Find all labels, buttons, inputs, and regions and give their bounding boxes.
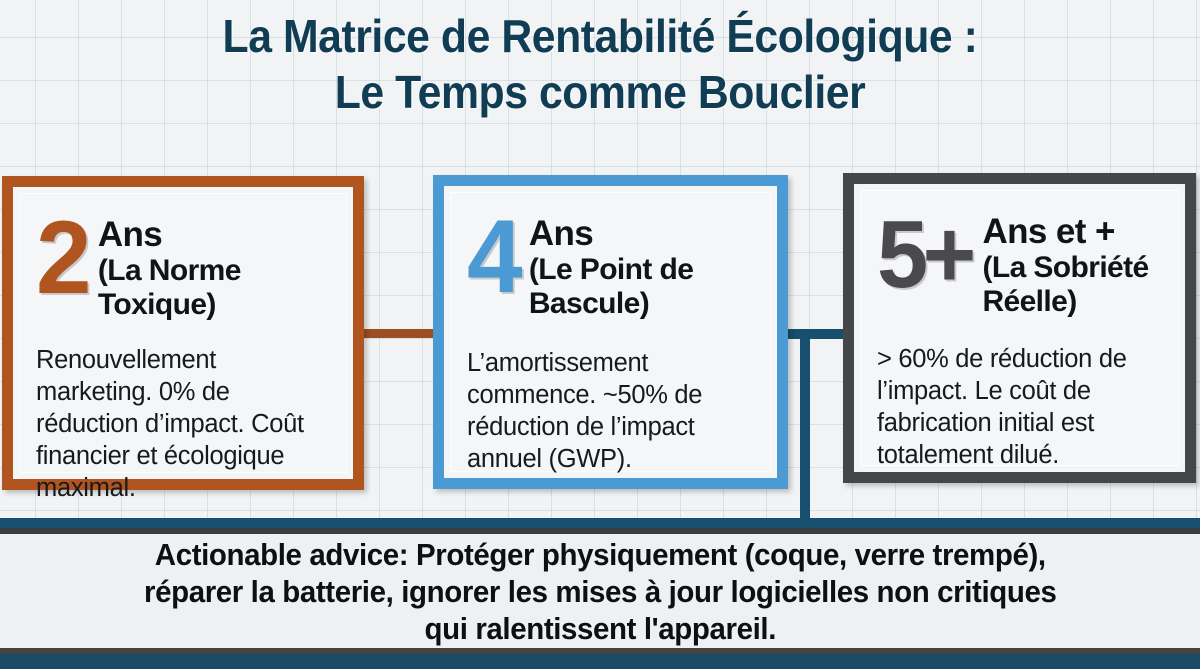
card-body-2-years: Renouvellement marketing. 0% de réductio… xyxy=(36,344,330,504)
card-unit-label-2: Ans xyxy=(98,215,162,254)
footer-panel: Actionable advice: Protéger physiquement… xyxy=(0,534,1200,648)
title-line-2: Le Temps comme Bouclier xyxy=(42,64,1158,120)
card-heading-5-plus-years: Ans et + (La Sobriété Réelle) xyxy=(982,209,1162,319)
card-qualifier-2: (La Norme Toxique) xyxy=(98,254,330,322)
milestone-card-5-plus-years: 5+ Ans et + (La Sobriété Réelle) > 60% d… xyxy=(843,173,1196,483)
card-content-4-years: 4 Ans (Le Point de Bascule) L’amortissem… xyxy=(450,192,771,472)
card-content-2-years: 2 Ans (La Norme Toxique) Renouvellement … xyxy=(19,193,347,473)
card-qualifier-4: (Le Point de Bascule) xyxy=(529,253,754,321)
milestone-card-2-years: 2 Ans (La Norme Toxique) Renouvellement … xyxy=(2,176,364,490)
connector-card2-to-card3 xyxy=(780,329,848,339)
card-unit-label-4: Ans xyxy=(529,214,593,253)
card-body-4-years: L’amortissement commence. ~50% de réduct… xyxy=(467,347,754,475)
card-unit-label-5-plus: Ans et + xyxy=(982,212,1114,251)
footer-line-2: réparer la batterie, ignorer les mises à… xyxy=(144,573,1056,610)
milestone-card-4-years: 4 Ans (Le Point de Bascule) L’amortissem… xyxy=(433,175,788,489)
page-title: La Matrice de Rentabilité Écologique : L… xyxy=(42,8,1158,120)
title-line-1: La Matrice de Rentabilité Écologique : xyxy=(42,8,1158,64)
card-body-5-plus-years: > 60% de réduction de l’impact. Le coût … xyxy=(877,343,1162,471)
infographic-canvas: La Matrice de Rentabilité Écologique : L… xyxy=(0,0,1200,669)
footer-top-bar xyxy=(0,518,1200,528)
footer-bottom-bar xyxy=(0,654,1200,669)
connector-vertical-to-footer xyxy=(800,332,810,522)
card-heading-4-years: Ans (Le Point de Bascule) xyxy=(529,211,754,321)
card-header-5-plus-years: 5+ Ans et + (La Sobriété Réelle) xyxy=(877,209,1162,319)
big-number-4: 4 xyxy=(467,211,519,303)
card-header-4-years: 4 Ans (Le Point de Bascule) xyxy=(467,211,754,321)
footer-line-3: qui ralentissent l'appareil. xyxy=(144,610,1056,647)
card-heading-2-years: Ans (La Norme Toxique) xyxy=(98,212,330,322)
footer-line-1: Actionable advice: Protéger physiquement… xyxy=(144,536,1056,573)
card-header-2-years: 2 Ans (La Norme Toxique) xyxy=(36,212,330,322)
connector-card1-to-card2 xyxy=(352,329,440,338)
actionable-advice-text: Actionable advice: Protéger physiquement… xyxy=(127,536,1074,647)
big-number-2: 2 xyxy=(36,212,88,304)
big-number-5-plus: 5+ xyxy=(877,209,971,301)
card-qualifier-5-plus: (La Sobriété Réelle) xyxy=(982,251,1162,319)
card-content-5-plus-years: 5+ Ans et + (La Sobriété Réelle) > 60% d… xyxy=(860,190,1179,466)
